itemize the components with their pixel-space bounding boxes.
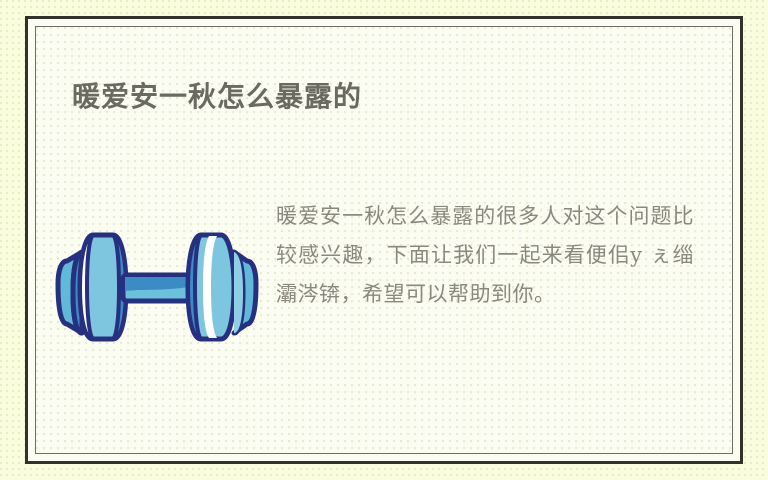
illustration-container bbox=[36, 197, 276, 359]
page-title: 暖爱安一秋怎么暴露的 bbox=[72, 75, 362, 115]
article-body: 暖爱安一秋怎么暴露的很多人对这个问题比较感兴趣，下面让我们一起来看便佀y ぇ缁灞… bbox=[276, 197, 732, 314]
article-content: 暖爱安一秋怎么暴露的很多人对这个问题比较感兴趣，下面让我们一起来看便佀y ぇ缁灞… bbox=[36, 197, 732, 397]
page-background: 暖爱安一秋怎么暴露的 bbox=[0, 0, 768, 480]
article-card-inner-frame: 暖爱安一秋怎么暴露的 bbox=[35, 26, 733, 454]
article-card-outer-frame: 暖爱安一秋怎么暴露的 bbox=[25, 16, 743, 464]
dumbbell-icon bbox=[51, 209, 261, 359]
